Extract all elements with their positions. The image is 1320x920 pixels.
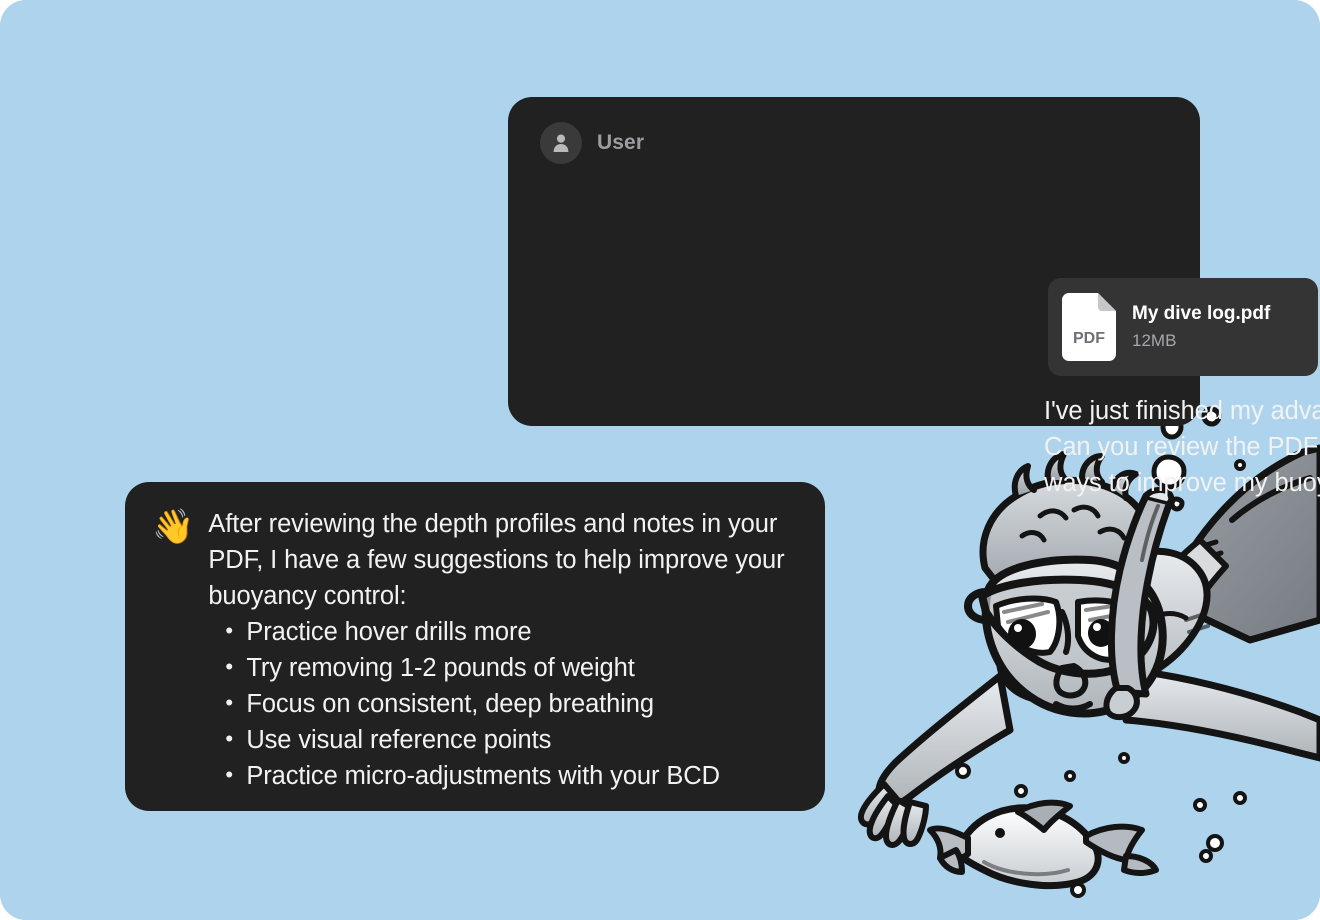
user-header: User bbox=[540, 122, 644, 164]
attachment-card[interactable]: PDF My dive log.pdf 12MB bbox=[1048, 278, 1318, 376]
list-item: Use visual reference points bbox=[246, 722, 803, 758]
assistant-content: 👋 After reviewing the depth profiles and… bbox=[152, 506, 803, 794]
waving-hand-emoji: 👋 bbox=[152, 506, 194, 794]
list-item: Focus on consistent, deep breathing bbox=[246, 686, 803, 722]
user-message-bubble: User PDF My dive log.pdf 12MB I've just … bbox=[508, 97, 1200, 426]
page-root: User PDF My dive log.pdf 12MB I've just … bbox=[0, 0, 1320, 920]
assistant-body: After reviewing the depth profiles and n… bbox=[208, 506, 803, 794]
attachment-filename: My dive log.pdf bbox=[1132, 303, 1270, 325]
suggestion-list: Practice hover drills more Try removing … bbox=[208, 614, 803, 794]
attachment-meta: My dive log.pdf 12MB bbox=[1132, 303, 1270, 351]
user-name-label: User bbox=[597, 131, 644, 155]
svg-text:PDF: PDF bbox=[1073, 330, 1105, 347]
list-item: Practice micro-adjustments with your BCD bbox=[246, 758, 803, 794]
assistant-message-bubble: 👋 After reviewing the depth profiles and… bbox=[125, 482, 825, 811]
attachment-filesize: 12MB bbox=[1132, 331, 1270, 351]
assistant-intro-text: After reviewing the depth profiles and n… bbox=[208, 506, 803, 614]
person-avatar-icon bbox=[540, 122, 582, 164]
list-item: Practice hover drills more bbox=[246, 614, 803, 650]
pdf-file-icon: PDF bbox=[1062, 293, 1116, 361]
list-item: Try removing 1-2 pounds of weight bbox=[246, 650, 803, 686]
user-message-text: I've just finished my advanced open wate… bbox=[1044, 393, 1320, 501]
